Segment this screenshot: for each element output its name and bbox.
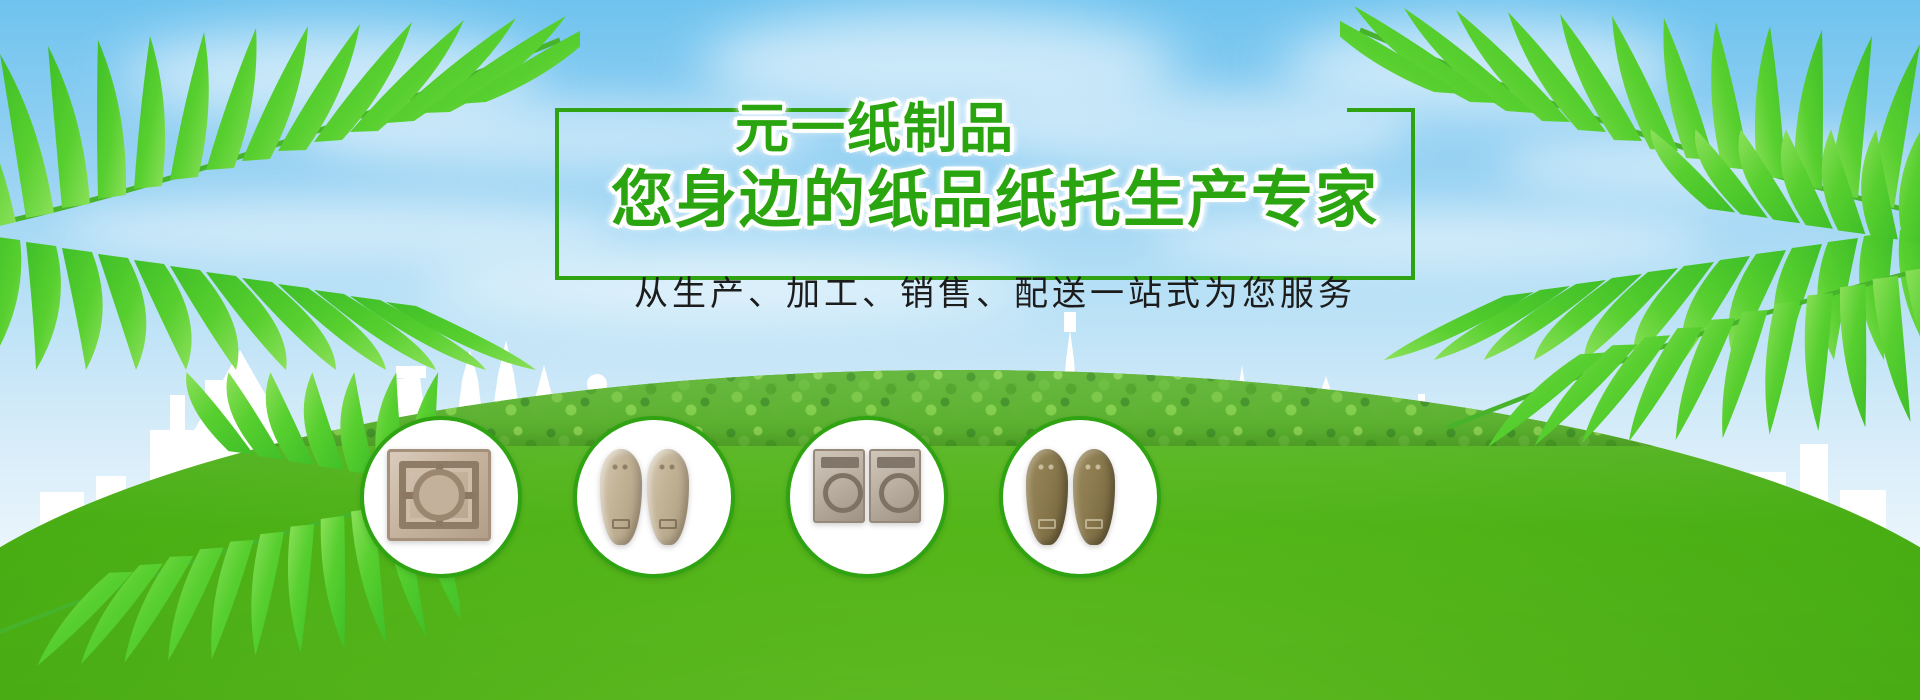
- product-image-paper-shoe-tree-light: [600, 449, 708, 545]
- shoe-right-icon: [647, 449, 689, 545]
- shoe-pair-icon: [600, 449, 708, 545]
- shoe-pair-icon: [1026, 449, 1134, 545]
- tray-rib-horizontal: [402, 492, 476, 499]
- product-image-molded-pulp-tray: [387, 449, 495, 545]
- tray-rib-vertical: [436, 464, 443, 526]
- molded-pulp-tray-icon: [387, 449, 491, 541]
- shoe-toe-detail: [611, 463, 631, 475]
- shoe-left-icon: [1026, 449, 1068, 545]
- shoe-toe-detail: [658, 463, 678, 475]
- cloud: [60, 200, 620, 260]
- shoe-heel-detail: [1038, 519, 1056, 529]
- brand-name: 元一纸制品: [735, 100, 1435, 156]
- shoe-toe-detail: [1084, 463, 1104, 475]
- pulp-block-left-icon: [813, 449, 865, 523]
- product-image-molded-pulp-corner-blocks: [813, 449, 921, 545]
- subtitle: 从生产、加工、销售、配送一站式为您服务: [555, 266, 1435, 315]
- headline-block: 元一纸制品 您身边的纸品纸托生产专家 从生产、加工、销售、配送一站式为您服务: [555, 100, 1435, 315]
- pulp-block-right-icon: [869, 449, 921, 523]
- promo-banner: 元一纸制品 您身边的纸品纸托生产专家 从生产、加工、销售、配送一站式为您服务 纸…: [0, 0, 1920, 700]
- headline-main: 您身边的纸品纸托生产专家: [555, 170, 1435, 232]
- product-circle-molded-pulp-corner-blocks[interactable]: 纸托产品三: [786, 416, 948, 578]
- shoe-heel-detail: [659, 519, 677, 529]
- shoe-heel-detail: [1085, 519, 1103, 529]
- shoe-heel-detail: [612, 519, 630, 529]
- product-circle-paper-shoe-tree-light[interactable]: 纸托产品二: [573, 416, 735, 578]
- product-image-paper-shoe-tree-dark: [1026, 449, 1134, 545]
- pulp-block-pair-icon: [813, 449, 921, 523]
- shoe-right-icon: [1073, 449, 1115, 545]
- product-circle-molded-pulp-tray[interactable]: 纸托产品一: [360, 416, 522, 578]
- product-circle-paper-shoe-tree-dark[interactable]: 纸托产品四: [999, 416, 1161, 578]
- cloud: [1500, 130, 1920, 200]
- shoe-left-icon: [600, 449, 642, 545]
- shoe-toe-detail: [1037, 463, 1057, 475]
- product-circle-row: 纸托产品一 纸托产品二: [0, 400, 1920, 700]
